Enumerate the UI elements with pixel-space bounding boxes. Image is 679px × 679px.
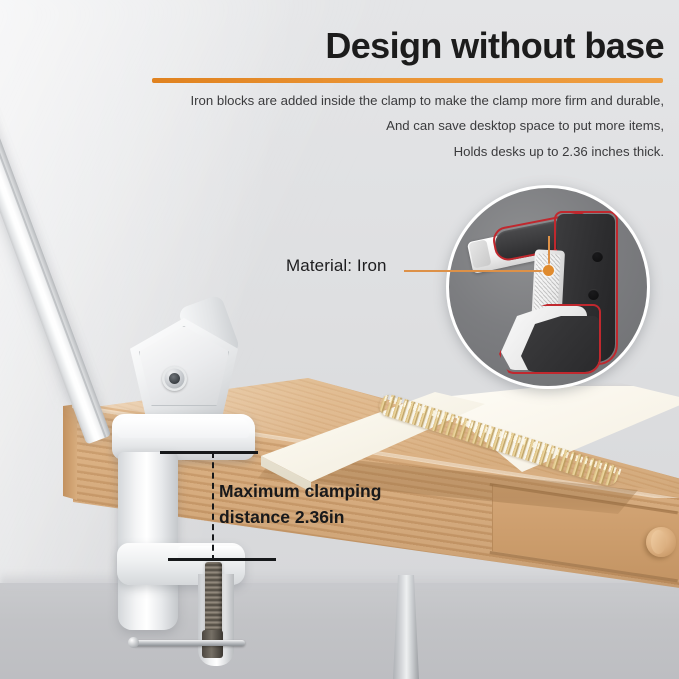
floor <box>0 583 679 679</box>
title-divider-rule <box>152 78 663 83</box>
desk-left-end-grain <box>63 404 77 504</box>
clamp-cutaway-inset <box>446 185 650 389</box>
dimension-dashed-line <box>212 452 214 561</box>
dimension-label-line2: distance 2.36in <box>219 505 381 531</box>
dimension-label: Maximum clamping distance 2.36in <box>219 479 381 531</box>
dimension-label-line1: Maximum clamping <box>219 479 381 505</box>
page-title: Design without base <box>152 26 664 66</box>
material-callout-label: Material: Iron <box>286 256 387 276</box>
callout-leader-line <box>404 270 550 272</box>
clamp-vertical-post <box>118 452 178 630</box>
inset-screw-hole-upper <box>592 251 603 262</box>
inset-screw-hole-lower <box>588 289 599 300</box>
clamp-tbar-handle <box>133 640 245 646</box>
subcopy-block: Iron blocks are added inside the clamp t… <box>152 88 664 164</box>
inset-inner-texture <box>533 253 560 312</box>
dimension-tick-bottom <box>168 558 276 561</box>
subcopy-line-2: And can save desktop space to put more i… <box>152 113 664 138</box>
joint-screw-icon <box>162 366 187 391</box>
callout-target-dot <box>543 265 554 276</box>
product-feature-image: Maximum clamping distance 2.36in Materia… <box>0 0 679 679</box>
drawer-knob-face <box>651 530 666 554</box>
subcopy-line-1: Iron blocks are added inside the clamp t… <box>152 88 664 113</box>
dimension-tick-top <box>160 451 258 454</box>
subcopy-line-3: Holds desks up to 2.36 inches thick. <box>152 139 664 164</box>
clamp-tbar-end-cap <box>128 637 139 648</box>
inset-red-outline-foot <box>499 304 601 374</box>
clamp-upper-jaw-face <box>118 418 249 438</box>
